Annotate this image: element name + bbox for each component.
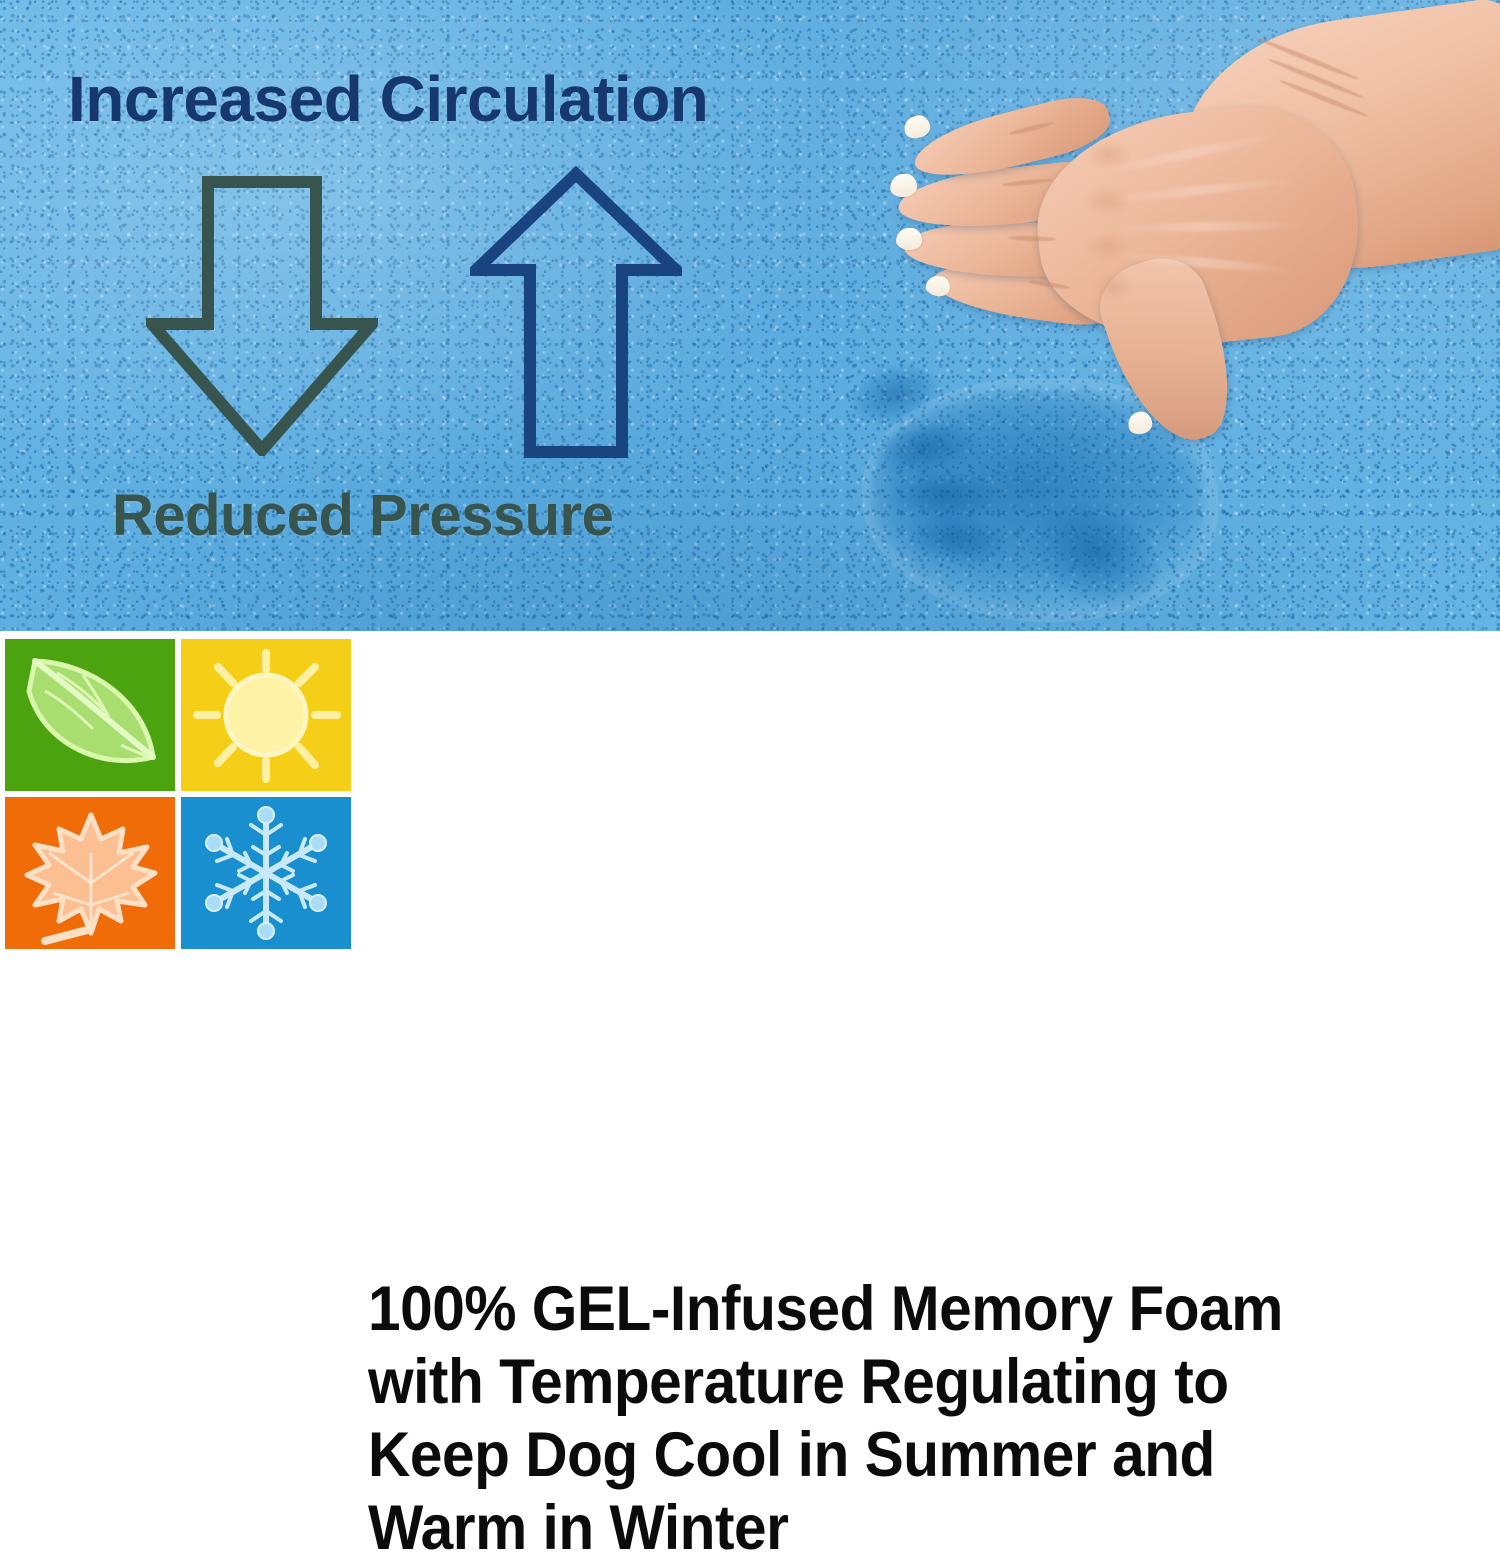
fingernail: [901, 113, 933, 142]
gel-memory-foam-photo: Increased Circulation Reduced Pressure: [0, 0, 1500, 631]
arrow-down-icon: [146, 176, 378, 456]
hand: [860, 0, 1500, 460]
season-tile-summer: [181, 639, 351, 791]
season-tile-winter: [181, 797, 351, 949]
hand-knuckle: [1094, 274, 1134, 300]
snowflake-icon: [181, 797, 351, 949]
label-reduced-pressure: Reduced Pressure: [112, 482, 613, 549]
season-tile-spring: [5, 639, 175, 791]
sun-icon: [181, 639, 351, 791]
hand-knuckle: [1084, 186, 1130, 216]
headline-line: Keep Dog Cool in Summer and: [368, 1419, 1423, 1492]
headline-line: with Temperature Regulating to: [368, 1346, 1423, 1419]
leaf-icon: [5, 639, 175, 791]
hand-knuckle: [1086, 232, 1130, 260]
maple-leaf-icon: [5, 797, 175, 949]
feature-infographic: Increased Circulation Reduced Pressure: [0, 0, 1500, 962]
arrow-up-icon: [470, 166, 682, 458]
season-icon-grid: [5, 639, 351, 949]
caption-band: 100% GEL-Infused Memory Foam with Temper…: [0, 631, 1500, 962]
headline-line: 100% GEL-Infused Memory Foam: [368, 1273, 1423, 1346]
hand-knuckle: [1086, 140, 1130, 170]
season-tile-autumn: [5, 797, 175, 949]
headline-line: Warm in Winter: [368, 1492, 1423, 1565]
headline-text: 100% GEL-Infused Memory Foam with Temper…: [368, 1273, 1500, 1565]
fingernail: [896, 228, 922, 250]
label-increased-circulation: Increased Circulation: [68, 62, 708, 136]
